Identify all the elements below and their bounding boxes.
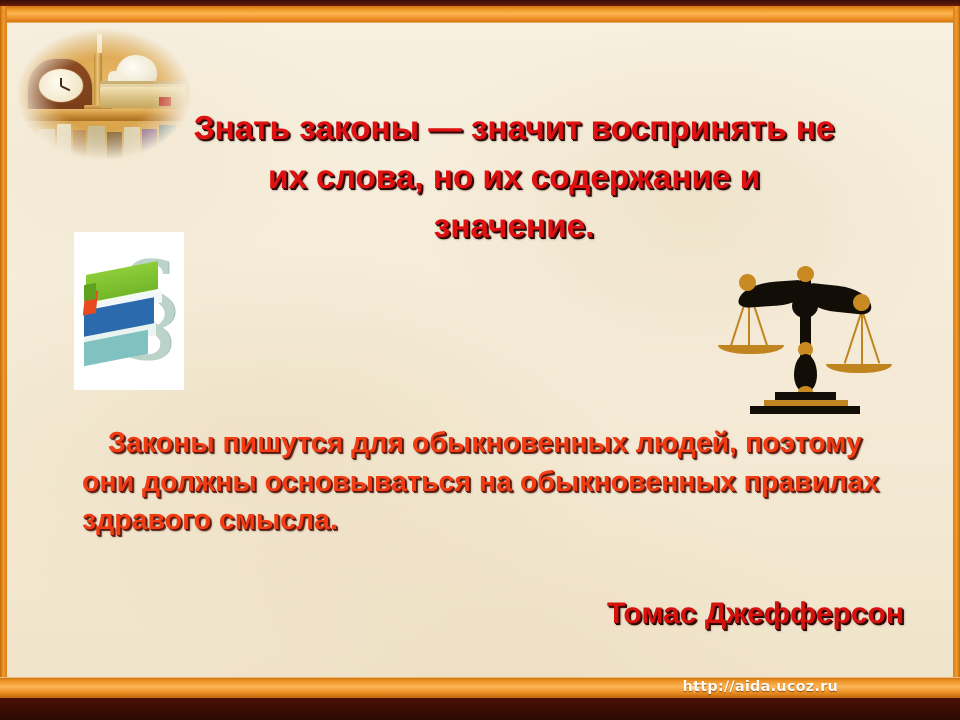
top-orange-border	[0, 6, 960, 23]
clock-hand-hour	[61, 85, 70, 91]
scale-string	[844, 310, 863, 364]
book-green-edge	[84, 283, 96, 301]
shelf-book-label	[159, 97, 171, 107]
book-spine	[73, 130, 86, 162]
book-spine	[124, 127, 141, 162]
footer-url-watermark[interactable]: http://aida.ucoz.ru	[683, 677, 838, 698]
page-title: Знать законы — значит воспринять не их с…	[184, 104, 844, 251]
book-spine	[159, 125, 176, 162]
scale-knob-left	[739, 274, 756, 291]
scales-of-justice-icon	[712, 256, 898, 424]
elephant-trunk	[108, 71, 122, 86]
quote-attribution: Томас Джефферсон	[82, 594, 920, 634]
bottom-dark-border	[0, 698, 960, 720]
shelf-plank	[14, 109, 198, 121]
stack-of-books-icon: §	[74, 232, 184, 390]
book-spine	[142, 129, 157, 162]
bookshelf-vignette	[6, 26, 202, 162]
mantel-clock-icon	[28, 59, 93, 112]
quote-body-text: Законы пишутся для обыкновенных людей, п…	[82, 424, 920, 540]
right-orange-border	[953, 6, 960, 698]
scale-pan-left	[718, 345, 784, 354]
elephant-figurine-icon	[116, 55, 157, 86]
shelf-lower-books	[12, 121, 198, 162]
bookshelf-image	[6, 26, 202, 162]
scale-knob-right	[853, 294, 870, 311]
scale-hub	[792, 294, 818, 318]
scale-finial	[797, 266, 814, 282]
scale-string	[861, 310, 880, 364]
shelf-top-books	[100, 87, 186, 107]
scale-base-bottom	[750, 406, 860, 414]
book-spine	[88, 126, 105, 162]
book-spine	[57, 124, 72, 162]
book-spine	[107, 132, 122, 162]
slide-canvas: Знать законы — значит воспринять не их с…	[0, 0, 960, 720]
clock-face	[38, 68, 84, 103]
scale-pan-right	[826, 364, 892, 373]
scale-string	[861, 310, 863, 366]
book-spine	[38, 129, 55, 162]
